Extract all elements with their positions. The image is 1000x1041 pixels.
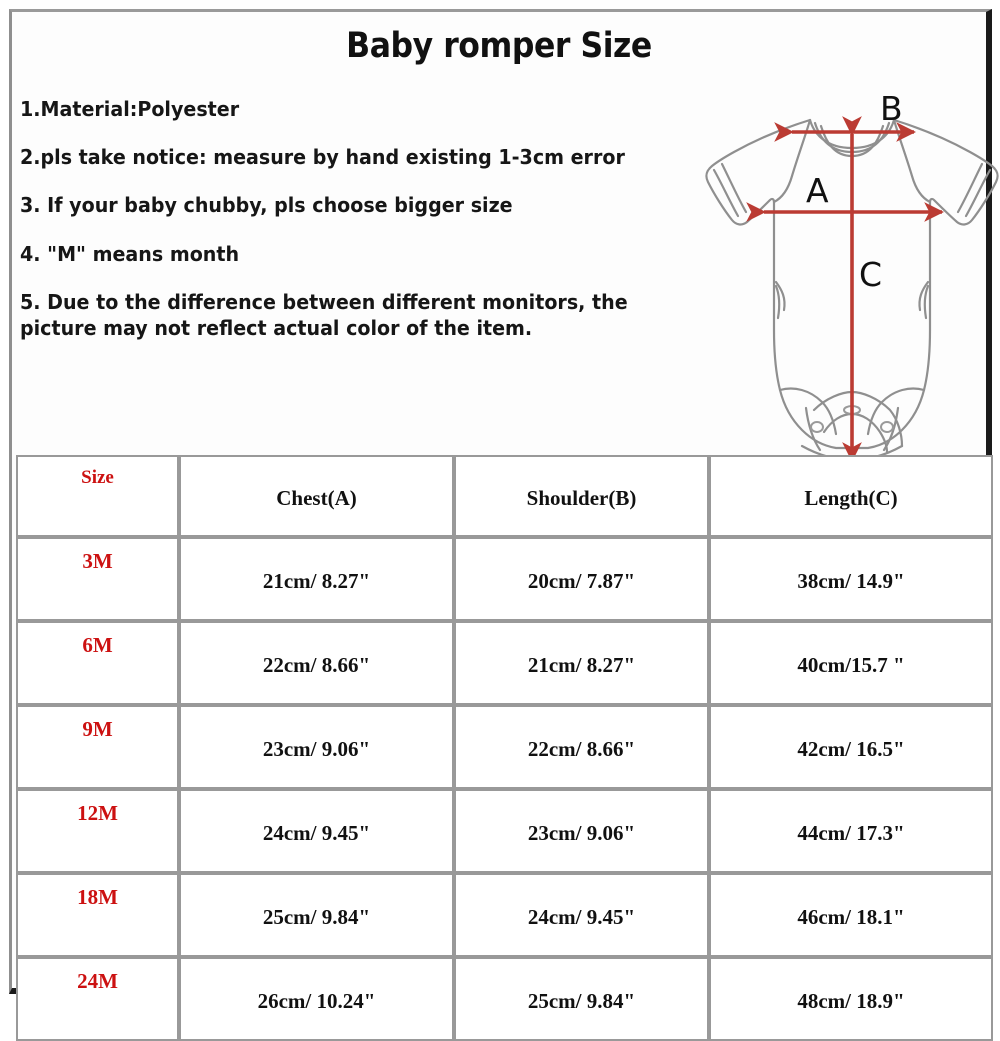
table-row: 3M 21cm/ 8.27" 20cm/ 7.87" 38cm/ 14.9" [16, 537, 993, 621]
header-chest: Chest(A) [179, 455, 454, 537]
note-item-3: 3. If your baby chubby, pls choose bigge… [20, 192, 634, 218]
header-shoulder: Shoulder(B) [454, 455, 709, 537]
cell-shoulder: 22cm/ 8.66" [454, 705, 709, 789]
cell-shoulder: 23cm/ 9.06" [454, 789, 709, 873]
notes-list: 1.Material:Polyester 2.pls take notice: … [20, 96, 680, 363]
cell-chest: 25cm/ 9.84" [179, 873, 454, 957]
diagram-label-c: C [859, 255, 882, 294]
cell-size: 6M [16, 621, 179, 705]
snap-button-right [881, 422, 893, 432]
cell-length: 40cm/15.7 " [709, 621, 993, 705]
cell-size: 12M [16, 789, 179, 873]
cell-chest: 21cm/ 8.27" [179, 537, 454, 621]
romper-diagram: B A C [702, 90, 1000, 468]
cell-length: 48cm/ 18.9" [709, 957, 993, 1041]
snap-button-left [811, 422, 823, 432]
note-item-4: 4. "M" means month [20, 241, 634, 267]
diagram-label-a: A [806, 171, 829, 210]
diagram-label-b: B [880, 90, 903, 128]
cell-length: 44cm/ 17.3" [709, 789, 993, 873]
table-row: 12M 24cm/ 9.45" 23cm/ 9.06" 44cm/ 17.3" [16, 789, 993, 873]
size-table: Size Chest(A) Shoulder(B) Length(C) 3M 2… [16, 455, 993, 1041]
cell-length: 46cm/ 18.1" [709, 873, 993, 957]
cell-size: 18M [16, 873, 179, 957]
page-title: Baby romper Size [61, 26, 938, 66]
size-chart-page: Baby romper Size 1.Material:Polyester 2.… [0, 0, 1000, 1000]
header-size: Size [16, 455, 179, 537]
note-item-5: 5. Due to the difference between differe… [20, 289, 634, 341]
cell-shoulder: 21cm/ 8.27" [454, 621, 709, 705]
cell-shoulder: 25cm/ 9.84" [454, 957, 709, 1041]
cell-chest: 24cm/ 9.45" [179, 789, 454, 873]
cell-size: 3M [16, 537, 179, 621]
cell-length: 42cm/ 16.5" [709, 705, 993, 789]
cell-size: 9M [16, 705, 179, 789]
cell-shoulder: 24cm/ 9.45" [454, 873, 709, 957]
cell-chest: 26cm/ 10.24" [179, 957, 454, 1041]
cell-size: 24M [16, 957, 179, 1041]
table-row: 24M 26cm/ 10.24" 25cm/ 9.84" 48cm/ 18.9" [16, 957, 993, 1041]
cell-chest: 22cm/ 8.66" [179, 621, 454, 705]
cell-shoulder: 20cm/ 7.87" [454, 537, 709, 621]
header-length: Length(C) [709, 455, 993, 537]
note-item-1: 1.Material:Polyester [20, 96, 634, 122]
table-row: 18M 25cm/ 9.84" 24cm/ 9.45" 46cm/ 18.1" [16, 873, 993, 957]
table-header-row: Size Chest(A) Shoulder(B) Length(C) [16, 455, 993, 537]
table-row: 6M 22cm/ 8.66" 21cm/ 8.27" 40cm/15.7 " [16, 621, 993, 705]
note-item-2: 2.pls take notice: measure by hand exist… [20, 144, 634, 170]
cell-chest: 23cm/ 9.06" [179, 705, 454, 789]
chart-frame: Baby romper Size 1.Material:Polyester 2.… [9, 9, 992, 994]
cell-length: 38cm/ 14.9" [709, 537, 993, 621]
table-row: 9M 23cm/ 9.06" 22cm/ 8.66" 42cm/ 16.5" [16, 705, 993, 789]
